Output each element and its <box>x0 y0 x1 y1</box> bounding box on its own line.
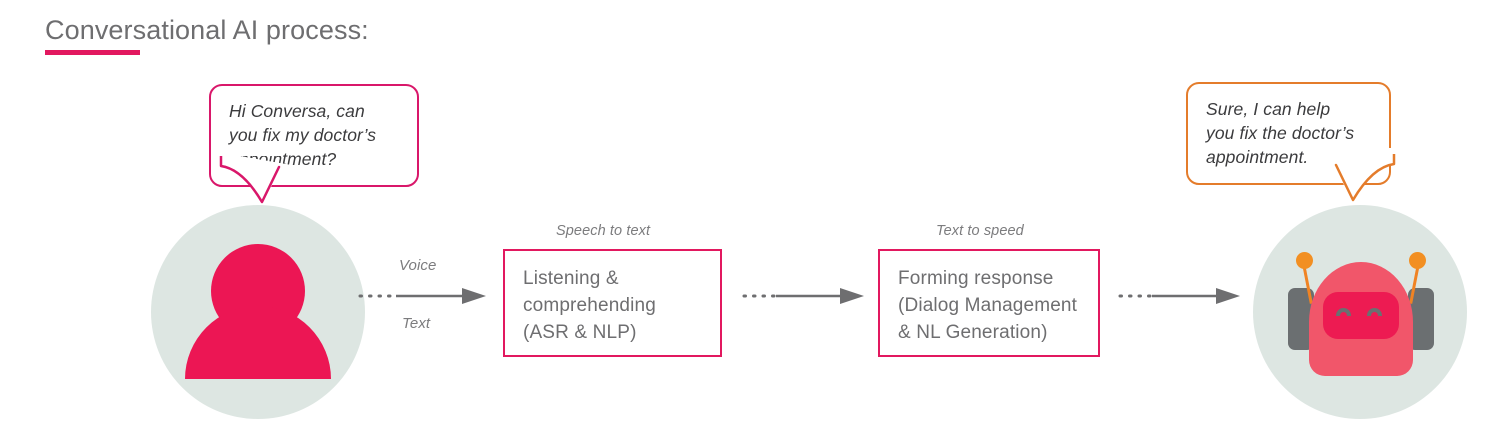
flow-arrow-user-to-step1 <box>358 285 488 307</box>
robot-face-panel-icon <box>1323 292 1399 339</box>
robot-eye-left-icon <box>1336 308 1351 316</box>
step2-caption: Text to speed <box>936 222 1024 240</box>
robot-antenna-tip-right-icon <box>1409 252 1426 269</box>
title-underline-rule <box>45 50 140 55</box>
assistant-speech-bubble-tail <box>1310 148 1400 206</box>
robot-avatar-icon <box>1288 250 1434 376</box>
robot-antenna-tip-left-icon <box>1296 252 1313 269</box>
user-speech-bubble-tail <box>215 150 305 208</box>
flow-arrow-step2-to-bot <box>1118 285 1242 307</box>
diagram-canvas: Conversational AI process: Hi Conversa, … <box>0 0 1500 422</box>
step2-box: Forming response (Dialog Management & NL… <box>878 249 1100 357</box>
page-title: Conversational AI process: <box>45 14 369 46</box>
robot-eye-right-icon <box>1367 308 1382 316</box>
step1-box: Listening & comprehending (ASR & NLP) <box>503 249 722 357</box>
step1-caption: Speech to text <box>556 222 650 240</box>
flow-arrow-step1-to-step2 <box>742 285 866 307</box>
page-title-group: Conversational AI process: <box>45 14 369 55</box>
arrow-label-text: Text <box>402 315 430 333</box>
arrow-label-voice: Voice <box>399 257 436 275</box>
